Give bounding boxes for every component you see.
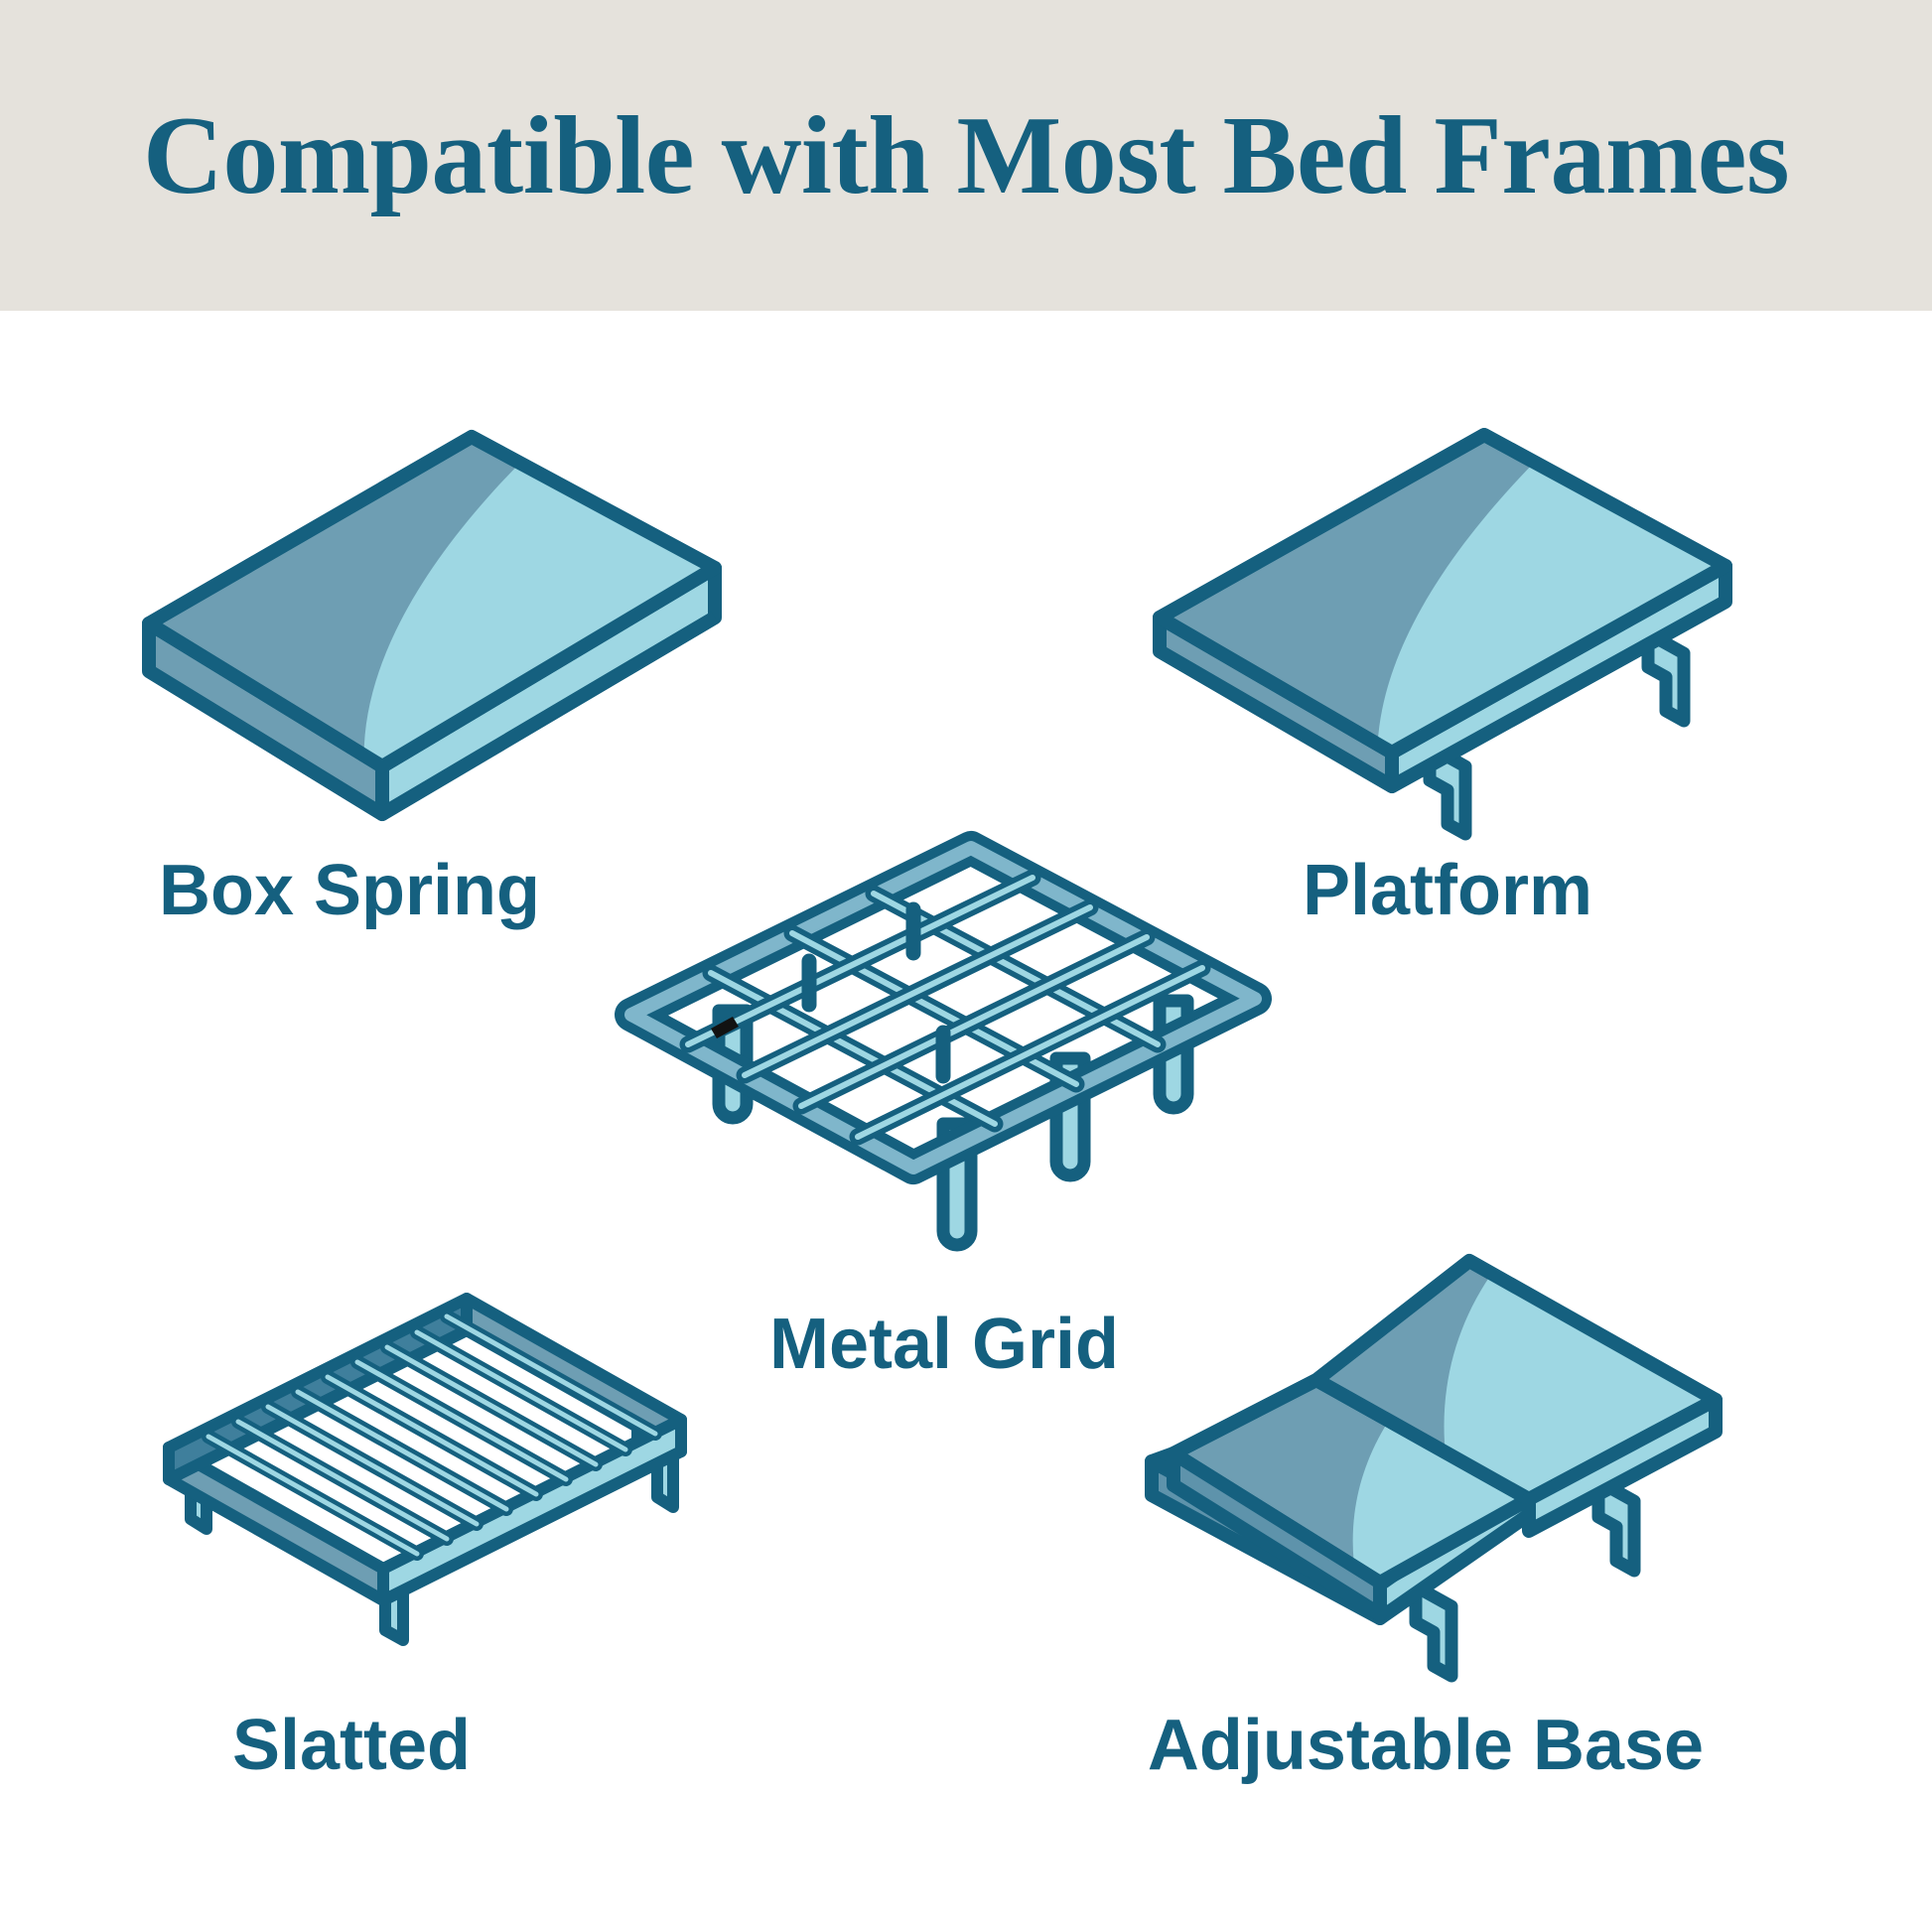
item-label-adjustable-base: Adjustable Base <box>1148 1710 1704 1781</box>
slatted-frame-icon <box>129 1281 685 1638</box>
infographic-poster: Compatible with Most Bed Frames <box>0 0 1932 1932</box>
item-label-box-spring: Box Spring <box>159 855 540 926</box>
item-label-slatted: Slatted <box>232 1710 471 1781</box>
metal-grid-icon <box>616 834 1271 1251</box>
adjustable-base-icon <box>1132 1251 1747 1668</box>
item-label-metal-grid: Metal Grid <box>769 1309 1119 1380</box>
item-label-platform: Platform <box>1303 855 1592 926</box>
platform-icon <box>1132 397 1747 814</box>
box-spring-icon <box>119 397 735 814</box>
page-title: Compatible with Most Bed Frames <box>103 100 1829 211</box>
header-bar: Compatible with Most Bed Frames <box>0 0 1932 311</box>
